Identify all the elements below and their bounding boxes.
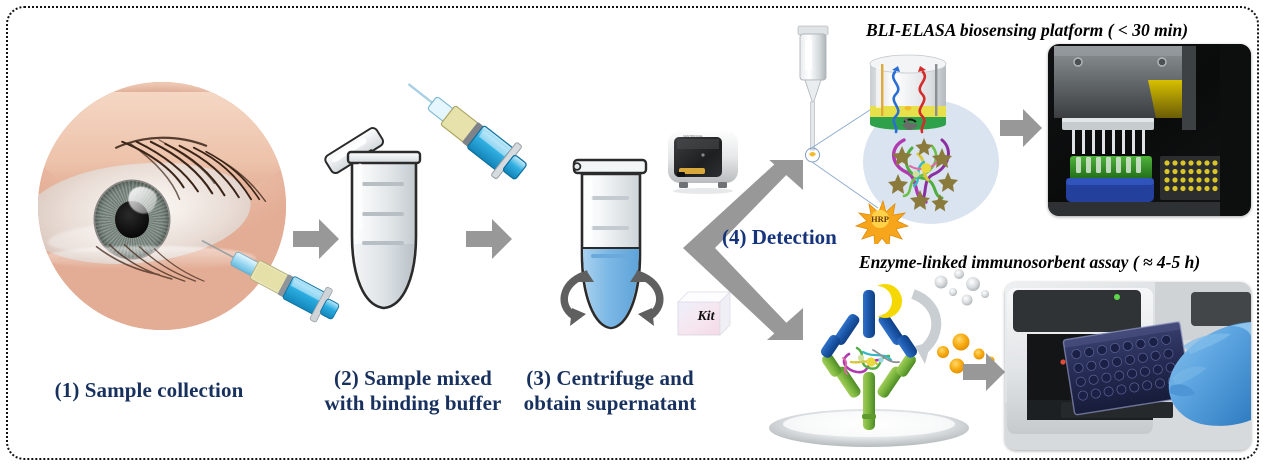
step1-label: (1) Sample collection [8, 378, 290, 403]
upper-eyelashes [112, 112, 276, 231]
rotation-arrows-icon [542, 252, 682, 332]
detection-antibody [819, 290, 919, 362]
microplate-reader-photo [1005, 282, 1251, 450]
arrow-bli-to-instrument [1000, 108, 1042, 148]
svg-text:CENTRIFUGE: CENTRIFUGE [683, 134, 703, 138]
eye-injection-photo [38, 82, 286, 330]
syringe-injecting-tube [400, 62, 530, 192]
enzyme-label [877, 284, 902, 318]
arrow-step2-to-step3 [466, 218, 512, 260]
step2-label: (2) Sample mixed with binding buffer [315, 366, 511, 416]
biosensor-probe [798, 26, 828, 150]
bli-instrument-photo [1048, 44, 1251, 216]
bli-biosensor-schematic: HRP [792, 22, 1007, 244]
hrp-label: HRP [871, 214, 889, 224]
arrow-elisa-to-reader [963, 352, 1005, 392]
step3-label: (3) Centrifuge and obtain supernatant [512, 366, 708, 416]
figure-canvas: (1) Sample collection [0, 0, 1269, 470]
substrate-dots [935, 269, 990, 306]
